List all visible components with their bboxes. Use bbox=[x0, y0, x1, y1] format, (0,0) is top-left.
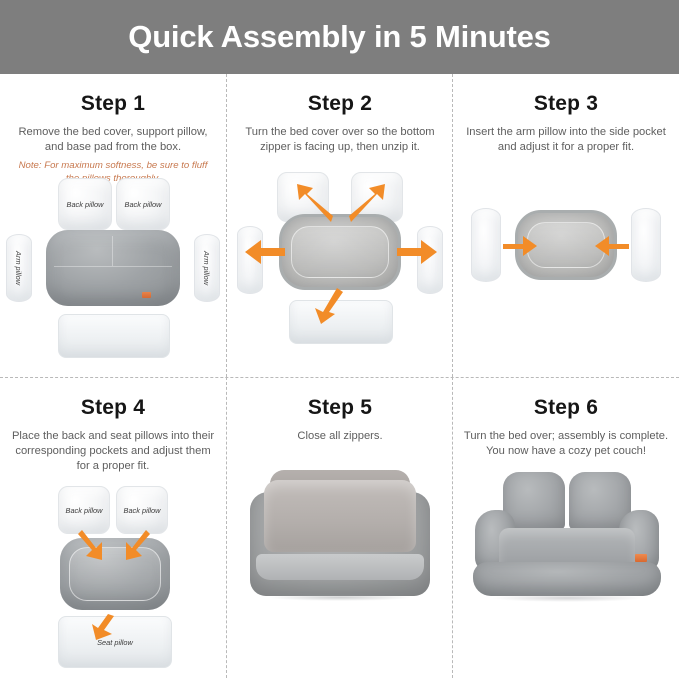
step-1-illustration: Back pillow Back pillow Arm pillow Arm p… bbox=[0, 178, 226, 376]
bed-top-surface bbox=[264, 480, 416, 552]
step-2-title: Step 2 bbox=[227, 92, 453, 116]
arm-pillow-left-label: Arm pillow bbox=[0, 256, 52, 280]
bed-shadow bbox=[268, 594, 412, 601]
assembly-instruction-page: Quick Assembly in 5 Minutes Step 1 Remov… bbox=[0, 0, 679, 678]
header-banner: Quick Assembly in 5 Minutes bbox=[0, 0, 679, 74]
step-1-title: Step 1 bbox=[0, 92, 226, 116]
step-3-title: Step 3 bbox=[453, 92, 679, 116]
back-pillow-right: Back pillow bbox=[116, 178, 170, 230]
brand-tag-icon bbox=[635, 554, 647, 562]
finished-pet-couch bbox=[469, 466, 665, 606]
bed-cover-flipped bbox=[515, 210, 617, 280]
back-pillow-left-label: Back pillow bbox=[59, 179, 111, 229]
steps-grid: Step 1 Remove the bed cover, support pil… bbox=[0, 74, 679, 678]
back-pillow-left-label: Back pillow bbox=[59, 487, 109, 533]
bed-cover-flipped bbox=[279, 214, 401, 290]
step-6-illustration bbox=[453, 378, 679, 678]
step-2-description: Turn the bed cover over so the bottom zi… bbox=[227, 125, 453, 155]
page-title: Quick Assembly in 5 Minutes bbox=[128, 19, 550, 55]
bed-cover-open bbox=[60, 538, 170, 610]
seat-pillow-label: Seat pillow bbox=[59, 617, 171, 667]
back-pillow-left: Back pillow bbox=[58, 486, 110, 534]
step-card-6: Step 6 Turn the bed over; assembly is co… bbox=[453, 378, 679, 678]
base-pad bbox=[289, 300, 393, 344]
bed-bottom-rim bbox=[256, 554, 424, 580]
back-pillow-right-label: Back pillow bbox=[117, 487, 167, 533]
step-card-2: Step 2 Turn the bed cover over so the bo… bbox=[227, 74, 453, 376]
assembled-bed-upside-down bbox=[250, 470, 430, 600]
back-pillow-right-label: Back pillow bbox=[117, 179, 169, 229]
cover-zipper-panel bbox=[291, 226, 389, 278]
step-5-illustration bbox=[227, 378, 453, 678]
step-4-title: Step 4 bbox=[0, 396, 226, 420]
back-pillow-left: Back pillow bbox=[58, 178, 112, 230]
step-3-illustration bbox=[453, 200, 679, 376]
step-card-1: Step 1 Remove the bed cover, support pil… bbox=[0, 74, 226, 376]
arm-pillow-right bbox=[417, 226, 443, 294]
base-pad bbox=[58, 314, 170, 358]
step-card-5: Step 5 Close all zippers. bbox=[227, 378, 453, 678]
cover-zipper-panel bbox=[527, 222, 605, 268]
step-4-illustration: Back pillow Back pillow Seat pillow bbox=[0, 486, 226, 678]
arm-pillow-left bbox=[471, 208, 501, 282]
arm-pillow-right: Arm pillow bbox=[194, 234, 220, 302]
step-4-description: Place the back and seat pillows into the… bbox=[0, 429, 226, 474]
seat-pillow: Seat pillow bbox=[58, 616, 172, 668]
cover-pocket-panel bbox=[69, 547, 161, 601]
step-card-4: Step 4 Place the back and seat pillows i… bbox=[0, 378, 226, 678]
cover-seam-horizontal bbox=[54, 266, 172, 267]
bed-cover bbox=[46, 230, 180, 306]
step-2-illustration bbox=[227, 172, 453, 376]
back-pillow-right: Back pillow bbox=[116, 486, 168, 534]
couch-shadow bbox=[491, 594, 643, 602]
step-card-3: Step 3 Insert the arm pillow into the si… bbox=[453, 74, 679, 376]
cover-seam-vertical bbox=[112, 236, 113, 266]
arm-pillow-right bbox=[631, 208, 661, 282]
arm-pillow-left: Arm pillow bbox=[6, 234, 32, 302]
couch-base bbox=[473, 562, 661, 596]
step-1-description: Remove the bed cover, support pillow, an… bbox=[0, 125, 226, 155]
brand-tag-icon bbox=[142, 292, 151, 298]
step-3-description: Insert the arm pillow into the side pock… bbox=[453, 125, 679, 155]
arm-pillow-left bbox=[237, 226, 263, 294]
